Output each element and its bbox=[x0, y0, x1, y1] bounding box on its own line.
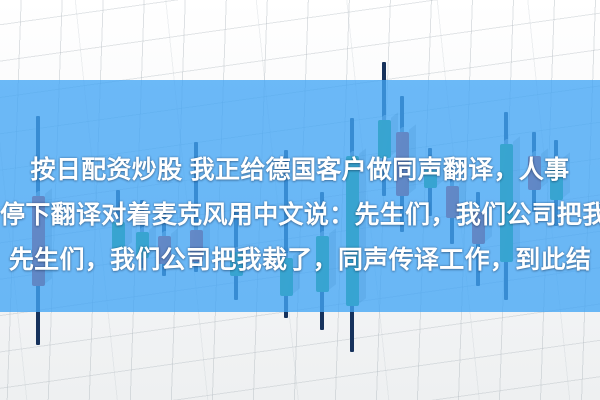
caption-text-3: 先生们，我们公司把我裁了，同声传译工作，到此结 bbox=[0, 248, 600, 273]
caption-text-1: 按日配资炒股 我正给德国客户做同声翻译，人事 bbox=[0, 158, 600, 183]
stock-banner-image: 按日配资炒股 我正给德国客户做同声翻译，人事 停下翻译对着麦克风用中文说：先生们… bbox=[0, 0, 600, 400]
caption-line-1: 按日配资炒股 我正给德国客户做同声翻译，人事 bbox=[0, 158, 600, 183]
blue-overlay-band bbox=[0, 80, 600, 312]
caption-line-3: 先生们，我们公司把我裁了，同声传译工作，到此结 bbox=[0, 248, 600, 273]
caption-line-2: 停下翻译对着麦克风用中文说：先生们，我们公司把我 bbox=[0, 203, 600, 228]
caption-text-2: 停下翻译对着麦克风用中文说：先生们，我们公司把我 bbox=[0, 203, 600, 228]
